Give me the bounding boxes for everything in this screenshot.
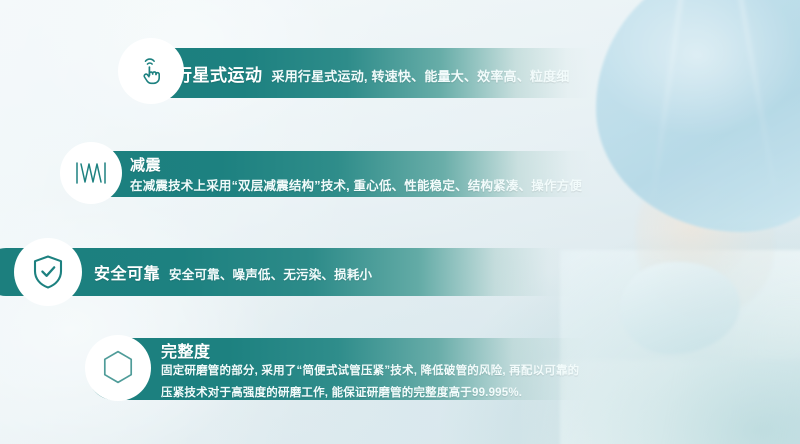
feature-row-planetary-motion[interactable]: 行星式运动 采用行星式运动, 转速快、能量大、效率高、粒度细 bbox=[121, 48, 591, 98]
shield-check-icon bbox=[32, 254, 64, 290]
feature-description-line-1: 固定研磨管的部分, 采用了“简便式试管压紧”技术, 降低破管的风险, 再配以可靠… bbox=[161, 362, 579, 378]
feature-row-safe-reliable[interactable]: 安全可靠 安全可靠、噪声低、无污染、损耗小 bbox=[0, 248, 572, 296]
feature-title: 安全可靠 bbox=[94, 260, 160, 284]
feature-banner: 行星式运动 采用行星式运动, 转速快、能量大、效率高、粒度细 减震 在减震技术上… bbox=[0, 0, 800, 444]
feature-icon-badge-safe-reliable bbox=[14, 238, 82, 306]
feature-title: 完整度 bbox=[161, 338, 211, 362]
feature-title: 减震 bbox=[130, 154, 161, 175]
feature-description-line-2: 压紧技术对于高强度的研磨工作, 能保证研磨管的完整度高于99.995%. bbox=[161, 384, 579, 400]
feature-icon-badge-integrity bbox=[85, 335, 151, 401]
feature-row-text: 完整度 固定研磨管的部分, 采用了“简便式试管压紧”技术, 降低破管的风险, 再… bbox=[161, 338, 588, 400]
feature-icon-badge-vibration-damping bbox=[60, 142, 122, 204]
vibration-wave-icon bbox=[74, 160, 108, 186]
hexagon-icon bbox=[101, 349, 135, 387]
feature-description: 在减震技术上采用“双层减震结构”技术, 重心低、性能稳定、结构紧凑、操作方便 bbox=[130, 175, 582, 194]
feature-description-block: 固定研磨管的部分, 采用了“简便式试管压紧”技术, 降低破管的风险, 再配以可靠… bbox=[161, 362, 579, 400]
feature-row-vibration-damping[interactable]: 减震 在减震技术上采用“双层减震结构”技术, 重心低、性能稳定、结构紧凑、操作方… bbox=[62, 151, 592, 197]
feature-title: 行星式运动 bbox=[175, 61, 263, 86]
feature-description: 安全可靠、噪声低、无污染、损耗小 bbox=[169, 264, 372, 283]
feature-row-text: 行星式运动 采用行星式运动, 转速快、能量大、效率高、粒度细 bbox=[175, 61, 570, 86]
feature-row-integrity[interactable]: 完整度 固定研磨管的部分, 采用了“简便式试管压紧”技术, 降低破管的风险, 再… bbox=[88, 338, 588, 400]
background-surgical-cap bbox=[596, 0, 800, 232]
feature-row-text: 安全可靠 安全可靠、噪声低、无污染、损耗小 bbox=[94, 260, 372, 284]
hand-touch-icon bbox=[134, 54, 168, 88]
feature-description: 采用行星式运动, 转速快、能量大、效率高、粒度细 bbox=[272, 66, 570, 85]
feature-row-text: 减震 在减震技术上采用“双层减震结构”技术, 重心低、性能稳定、结构紧凑、操作方… bbox=[130, 154, 592, 194]
feature-icon-badge-planetary-motion bbox=[118, 38, 184, 104]
